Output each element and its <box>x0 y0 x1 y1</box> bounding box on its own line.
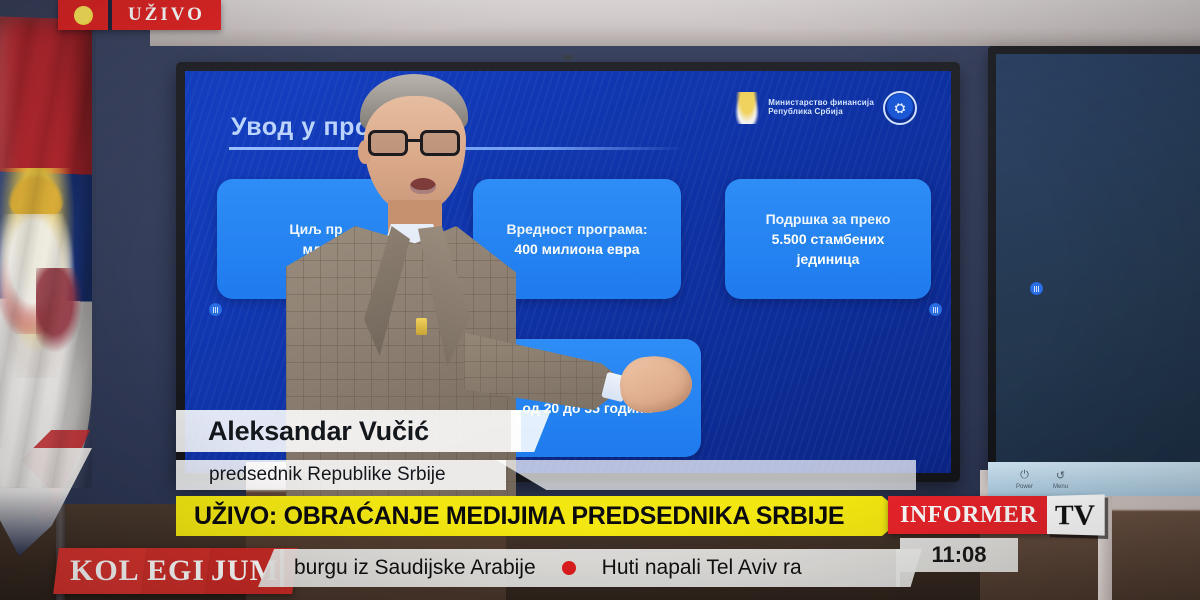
ticker-item-2: Huti napali Tel Aviv ra <box>602 556 802 580</box>
secondary-display <box>988 46 1200 476</box>
program-badge-segment-1: KOL <box>53 548 146 594</box>
lapel-pin-icon <box>416 318 427 335</box>
secondary-screen-surface <box>996 54 1200 468</box>
ministry-seal-icon: ⛭ <box>883 91 917 125</box>
secondary-display-status-icon <box>1030 282 1043 295</box>
headline-bar: UŽIVO: OBRAĆANJE MEDIJIMA PREDSEDNIKA SR… <box>176 496 882 536</box>
card-support-text: Подршка за преко 5.500 стамбених јединиц… <box>739 209 917 270</box>
display-camera-icon <box>563 55 573 61</box>
speaker-name-bar: Aleksandar Vučić <box>176 410 521 452</box>
serbia-arms-icon <box>735 92 759 124</box>
glasses-icon <box>368 130 464 156</box>
speaker-role-bar: predsednik Republike Srbije <box>176 460 506 490</box>
broadcast-frame: Увод у прог Министарство финансија Репуб… <box>0 0 1200 600</box>
ticker-item-1: burgu iz Saudijske Arabije <box>294 556 536 580</box>
display-status-icon-right <box>929 303 942 316</box>
display-power-button[interactable]: ⏻ Power <box>1016 469 1033 490</box>
live-badge-label: UŽIVO <box>112 0 221 30</box>
power-icon: ⏻ <box>1020 469 1029 482</box>
program-badge-text-1: KOL <box>70 554 140 588</box>
lower-third-role-wedge <box>496 460 916 490</box>
news-ticker: burgu iz Saudijske Arabije Huti napali T… <box>280 549 900 587</box>
program-badge-text-2: EGI <box>147 554 205 588</box>
secondary-display-controls[interactable]: ⏻ Power ↺ Menu <box>988 462 1200 496</box>
ticker-separator-icon <box>562 561 576 575</box>
display-status-icon-left <box>209 303 222 316</box>
slide-card-support: Подршка за преко 5.500 стамбених јединиц… <box>725 179 931 299</box>
menu-button-label: Menu <box>1053 484 1068 490</box>
flag-folds <box>0 18 92 488</box>
glasses-lens-left <box>368 130 408 156</box>
menu-icon: ↺ <box>1056 469 1065 482</box>
channel-logo-tv: TV <box>1047 494 1104 535</box>
display-menu-button[interactable]: ↺ Menu <box>1053 469 1068 490</box>
program-badge-segment-2: EGI <box>141 548 211 594</box>
power-button-label: Power <box>1016 484 1033 490</box>
channel-logo: INFORMER TV <box>888 496 1101 534</box>
channel-logo-name: INFORMER <box>888 496 1047 534</box>
ceiling-strip <box>150 0 1200 46</box>
program-badge: KOL EGI JUM <box>53 548 297 594</box>
serbian-flag <box>0 18 100 538</box>
ministry-line-2: Република Србија <box>768 108 874 117</box>
ministry-name: Министарство финансија Република Србија <box>768 99 874 117</box>
speaker-mouth <box>410 178 436 194</box>
ministry-logo: Министарство финансија Република Србија … <box>735 91 917 125</box>
live-dot-icon <box>74 6 93 25</box>
live-dot-container <box>58 0 108 30</box>
glasses-lens-right <box>420 130 460 156</box>
live-badge: UŽIVO <box>58 0 221 30</box>
